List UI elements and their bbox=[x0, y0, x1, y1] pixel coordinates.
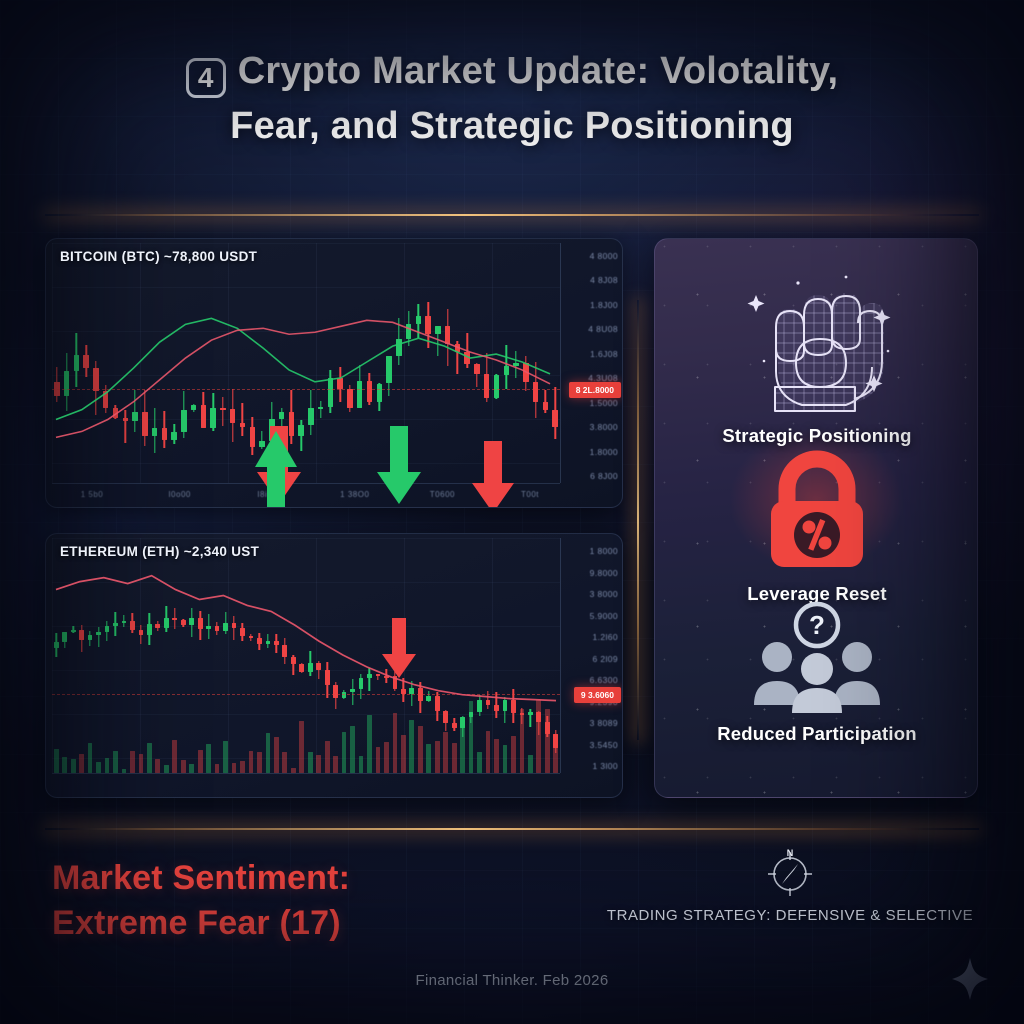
market-sentiment: Market Sentiment: Extreme Fear (17) bbox=[52, 856, 512, 946]
wireframe-fist-icon bbox=[738, 265, 896, 415]
padlock-percent-icon bbox=[757, 447, 877, 573]
sentiment-line-2: Extreme Fear (17) bbox=[52, 901, 512, 946]
btc-price-tick: 4 8U08 bbox=[588, 324, 618, 334]
eth-price-tick: 5.9000 bbox=[590, 611, 618, 621]
sparkle-icon bbox=[950, 956, 990, 1002]
btc-price-badge: 8 2L.8000 bbox=[569, 382, 621, 398]
btc-arrow-down-green bbox=[376, 424, 422, 506]
title-line-2: Fear, and Strategic Positioning bbox=[230, 105, 794, 147]
btc-chart-label: BITCOIN (BTC) ~78,800 USDT bbox=[60, 249, 257, 264]
compass-icon: N bbox=[762, 846, 818, 898]
svg-text:?: ? bbox=[809, 610, 825, 640]
eth-plot-area[interactable] bbox=[52, 538, 560, 773]
divider-top bbox=[45, 214, 979, 216]
btc-price-axis: 4 80004 8J081.8J004 8U081.6J084.3U081.50… bbox=[560, 243, 622, 483]
eth-price-tick: 3 8000 bbox=[590, 589, 618, 599]
btc-chart-panel[interactable]: BITCOIN (BTC) ~78,800 USDT 4 80004 8J081… bbox=[45, 238, 623, 508]
footer-credit: Financial Thinker. Feb 2026 bbox=[0, 972, 1024, 989]
btc-price-tick: 3.8000 bbox=[590, 422, 618, 432]
btc-time-tick: 1 38O0 bbox=[340, 490, 369, 499]
btc-price-tick: 6 8J00 bbox=[590, 471, 618, 481]
sentiment-line-1: Market Sentiment: bbox=[52, 856, 512, 901]
people-question-icon: ? bbox=[747, 601, 887, 713]
eth-price-axis: 1 80009.80003 80005.90001.2l606 2l096.63… bbox=[560, 538, 622, 773]
btc-price-tick: 1.8J00 bbox=[590, 300, 618, 310]
eth-arrow-down-red bbox=[381, 616, 417, 680]
eth-price-tick: 6 2l09 bbox=[592, 654, 618, 664]
page-title: 4Crypto Market Update: Volotality, Fear,… bbox=[96, 44, 928, 154]
divider-vertical bbox=[637, 300, 639, 740]
trading-strategy-tag: N TRADING STRATEGY: DEFENSIVE & SELECTIV… bbox=[590, 846, 990, 924]
divider-bottom bbox=[45, 828, 979, 830]
trading-strategy-text: TRADING STRATEGY: DEFENSIVE & SELECTIVE bbox=[590, 907, 990, 924]
btc-arrow-down-red-2 bbox=[471, 439, 515, 508]
eth-price-tick: 1 8000 bbox=[590, 546, 618, 556]
btc-price-tick: 1.5000 bbox=[590, 398, 618, 408]
eth-moving-average-line bbox=[52, 538, 560, 773]
btc-time-tick: T0600 bbox=[430, 490, 455, 499]
strategy-item-reduced-participation[interactable]: ? Reduced Participation bbox=[655, 601, 978, 745]
header: 4Crypto Market Update: Volotality, Fear,… bbox=[0, 44, 1024, 154]
btc-price-tick: 4 8J08 bbox=[590, 275, 618, 285]
btc-price-tick: 1.8000 bbox=[590, 447, 618, 457]
btc-time-tick: I0o00 bbox=[168, 490, 191, 499]
eth-chart-label: ETHEREUM (ETH) ~2,340 UST bbox=[60, 544, 259, 559]
eth-price-badge: 9 3.6060 bbox=[574, 687, 621, 703]
eth-price-tick: 1 3l00 bbox=[592, 761, 618, 771]
eth-time-axis bbox=[52, 773, 560, 797]
number-badge-icon: 4 bbox=[186, 58, 226, 98]
btc-time-tick: 1 5b0 bbox=[81, 490, 104, 499]
compass-north-label: N bbox=[787, 848, 794, 858]
eth-price-tick: 9.8000 bbox=[590, 568, 618, 578]
btc-time-tick: T00t bbox=[521, 490, 539, 499]
strategy-item-1-label: Strategic Positioning bbox=[655, 425, 978, 447]
eth-price-tick: 3.5450 bbox=[590, 740, 618, 750]
btc-price-tick: 4 8000 bbox=[590, 251, 618, 261]
eth-price-tick: 1.2l60 bbox=[592, 632, 618, 642]
eth-price-tick: 6.6300 bbox=[590, 675, 618, 685]
btc-arrow-up-green bbox=[254, 429, 298, 508]
strategy-item-3-label: Reduced Participation bbox=[655, 723, 978, 745]
title-line-1: Crypto Market Update: Volotality, bbox=[238, 50, 839, 92]
eth-price-tick: 3 8089 bbox=[590, 718, 618, 728]
btc-price-tick: 1.6J08 bbox=[590, 349, 618, 359]
eth-chart-panel[interactable]: ETHEREUM (ETH) ~2,340 UST 1 80009.80003 … bbox=[45, 533, 623, 798]
strategy-item-leverage-reset[interactable]: Leverage Reset bbox=[655, 447, 978, 605]
strategy-panel[interactable]: Strategic Positioning Leverage Reset ? bbox=[654, 238, 978, 798]
strategy-item-strategic-positioning[interactable]: Strategic Positioning bbox=[655, 265, 978, 447]
